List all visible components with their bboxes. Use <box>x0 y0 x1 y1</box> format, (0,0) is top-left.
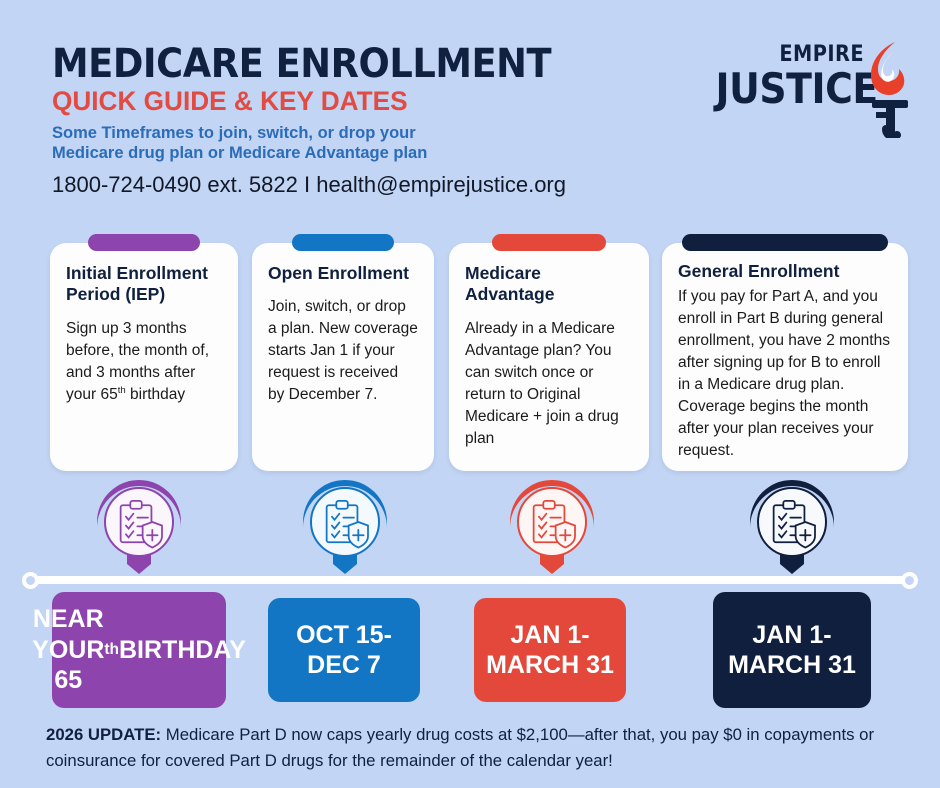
page-title: MEDICARE ENROLLMENT <box>52 44 622 84</box>
logo-line-empire: EMPIRE <box>719 44 864 66</box>
accent-bar-general-enrollment <box>682 234 888 251</box>
torch-flame-icon <box>862 40 914 138</box>
logo-line-justice: JUSTICE <box>716 68 865 111</box>
timeline-endpoint-left-icon <box>22 572 39 589</box>
card-open-enrollment[interactable]: Open Enrollment Join, switch, or drop a … <box>252 243 434 471</box>
pin-open-enrollment <box>297 478 393 574</box>
card-medicare-advantage[interactable]: Medicare Advantage Already in a Medicare… <box>449 243 649 471</box>
card-wrap-general-enrollment: General Enrollment If you pay for Part A… <box>662 243 908 471</box>
chip-medicare-advantage[interactable]: JAN 1-MARCH 31 <box>474 598 626 702</box>
chip-general-enrollment[interactable]: JAN 1-MARCH 31 <box>713 592 871 708</box>
card-title-initial-enrollment-period: Initial Enrollment Period (IEP) <box>66 263 222 306</box>
footer-label: 2026 UPDATE: <box>46 725 161 744</box>
title-block: MEDICARE ENROLLMENT QUICK GUIDE & KEY DA… <box>52 44 672 196</box>
chip-iep[interactable]: NEAR YOUR 65th BIRTHDAY <box>52 592 226 708</box>
card-body-medicare-advantage: Already in a Medicare Advantage plan? Yo… <box>465 318 633 450</box>
footer-text: Medicare Part D now caps yearly drug cos… <box>46 725 874 770</box>
accent-bar-initial-enrollment-period <box>88 234 200 251</box>
timeline-endpoint-right-icon <box>901 572 918 589</box>
accent-bar-medicare-advantage <box>492 234 606 251</box>
card-body-initial-enrollment-period: Sign up 3 months before, the month of, a… <box>66 318 222 406</box>
card-body-general-enrollment: If you pay for Part A, and you enroll in… <box>678 286 892 462</box>
empire-justice-logo: EMPIRE JUSTICE <box>699 40 914 140</box>
logo-text: EMPIRE JUSTICE <box>699 44 864 111</box>
card-body-open-enrollment: Join, switch, or drop a plan. New covera… <box>268 296 418 406</box>
card-title-open-enrollment: Open Enrollment <box>268 263 418 284</box>
page-subtitle: QUICK GUIDE & KEY DATES <box>52 88 653 115</box>
timeline-bar <box>30 576 910 584</box>
card-initial-enrollment-period[interactable]: Initial Enrollment Period (IEP) Sign up … <box>50 243 238 471</box>
pin-iep <box>91 478 187 574</box>
card-general-enrollment[interactable]: General Enrollment If you pay for Part A… <box>662 243 908 471</box>
contact-line: 1800-724-0490 ext. 5822 I health@empirej… <box>52 174 672 196</box>
card-wrap-initial-enrollment-period: Initial Enrollment Period (IEP) Sign up … <box>50 243 238 471</box>
accent-bar-open-enrollment <box>292 234 394 251</box>
card-title-medicare-advantage: Medicare Advantage <box>465 263 633 306</box>
header: MEDICARE ENROLLMENT QUICK GUIDE & KEY DA… <box>0 0 940 232</box>
pin-general-enrollment <box>744 478 840 574</box>
card-wrap-medicare-advantage: Medicare Advantage Already in a Medicare… <box>449 243 649 471</box>
footer-note: 2026 UPDATE: Medicare Part D now caps ye… <box>46 722 885 775</box>
card-title-general-enrollment: General Enrollment <box>678 261 892 282</box>
page-tagline: Some Timeframes to join, switch, or drop… <box>52 123 472 163</box>
card-wrap-open-enrollment: Open Enrollment Join, switch, or drop a … <box>252 243 434 471</box>
pin-medicare-advantage <box>504 478 600 574</box>
chip-open-enrollment[interactable]: OCT 15-DEC 7 <box>268 598 420 702</box>
